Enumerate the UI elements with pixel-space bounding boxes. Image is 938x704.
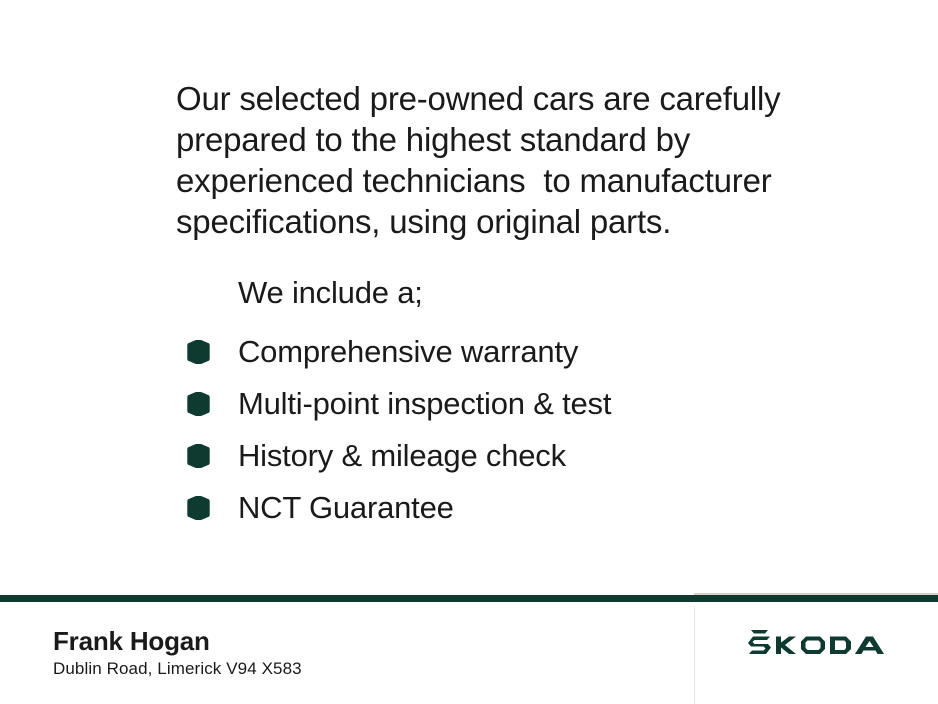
list-item-label: History & mileage check xyxy=(238,438,566,474)
dealer-name: Frank Hogan xyxy=(53,626,302,656)
hexagon-bullet-icon xyxy=(185,392,212,416)
list-item: NCT Guarantee xyxy=(185,482,805,534)
slide-canvas: Our selected pre-owned cars are carefull… xyxy=(0,0,938,704)
include-intro-text: We include a; xyxy=(238,273,423,313)
dealer-info: Frank Hogan Dublin Road, Limerick V94 X5… xyxy=(53,626,302,680)
list-item: Multi-point inspection & test xyxy=(185,378,805,430)
skoda-wordmark-icon xyxy=(748,625,888,659)
hexagon-bullet-icon xyxy=(185,340,212,364)
list-item-label: Comprehensive warranty xyxy=(238,334,578,370)
list-item-label: NCT Guarantee xyxy=(238,490,454,526)
hexagon-bullet-icon xyxy=(185,496,212,520)
list-item-label: Multi-point inspection & test xyxy=(238,386,611,422)
headline-text: Our selected pre-owned cars are carefull… xyxy=(176,78,816,242)
footer-divider xyxy=(0,595,938,602)
list-item: History & mileage check xyxy=(185,430,805,482)
hexagon-bullet-icon xyxy=(185,444,212,468)
footer-panel-divider xyxy=(694,606,695,704)
benefits-list: Comprehensive warranty Multi-point inspe… xyxy=(185,326,805,534)
dealer-address: Dublin Road, Limerick V94 X583 xyxy=(53,658,302,680)
list-item: Comprehensive warranty xyxy=(185,326,805,378)
